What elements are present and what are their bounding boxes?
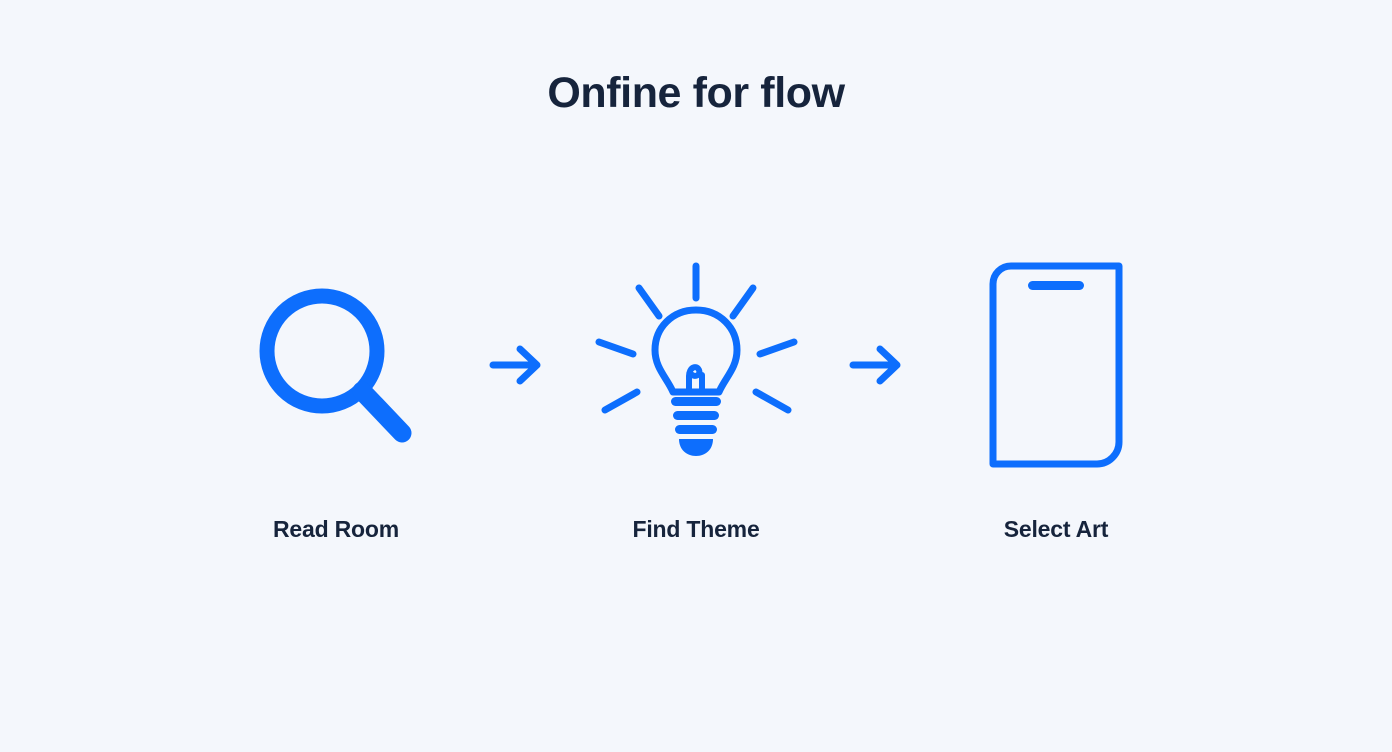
arrow-right-icon — [486, 339, 546, 391]
lightbulb-icon — [589, 250, 804, 480]
canvas-panel-icon — [971, 250, 1141, 480]
canvas-top-bar — [1028, 281, 1084, 290]
flow-step-label: Select Art — [1004, 518, 1109, 541]
flow-connector-1 — [461, 250, 571, 480]
page-title: Onfine for flow — [0, 72, 1392, 115]
flow-diagram: Read Room — [0, 250, 1392, 570]
magnifier-icon — [252, 250, 420, 480]
flow-step-select-art[interactable]: Select Art — [931, 250, 1181, 541]
flow-step-read-room[interactable]: Read Room — [211, 250, 461, 541]
flow-step-find-theme[interactable]: Find Theme — [571, 250, 821, 541]
flow-connector-2 — [821, 250, 931, 480]
flow-step-label: Read Room — [273, 518, 399, 541]
arrow-right-icon — [846, 339, 906, 391]
flow-step-label: Find Theme — [632, 518, 759, 541]
